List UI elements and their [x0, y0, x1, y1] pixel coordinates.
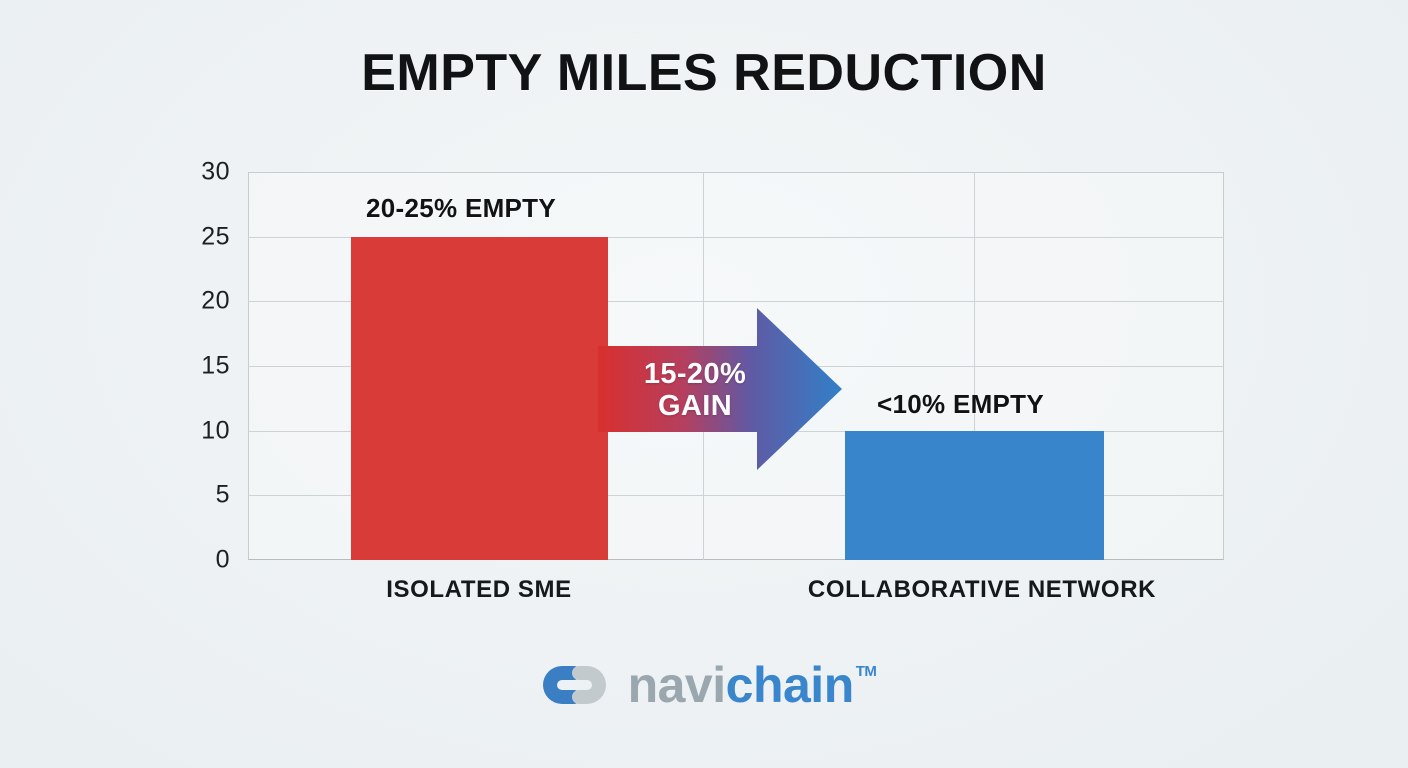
brand-wordmark-chain: chain [726, 660, 854, 710]
brand-wordmark: navi chain TM [628, 660, 877, 710]
page-title: EMPTY MILES REDUCTION [0, 46, 1408, 101]
chain-link-icon [532, 660, 614, 710]
trademark-symbol: TM [856, 664, 877, 679]
chart-canvas: EMPTY MILES REDUCTION 30 25 20 15 10 5 0… [0, 0, 1408, 768]
gain-arrow: 15-20% GAIN [598, 306, 844, 472]
brand-logo: navi chain TM [0, 660, 1408, 710]
y-axis-tick-20: 20 [170, 287, 230, 316]
y-axis-tick-5: 5 [170, 481, 230, 510]
y-axis-tick-25: 25 [170, 222, 230, 251]
x-axis-label-collaborative-network: COLLABORATIVE NETWORK [808, 576, 1156, 604]
brand-wordmark-navi: navi [628, 660, 726, 710]
bar-label-collaborative-network: <10% EMPTY [877, 389, 1044, 420]
y-axis-tick-10: 10 [170, 416, 230, 445]
y-axis-tick-0: 0 [170, 546, 230, 575]
x-axis-label-isolated-sme: ISOLATED SME [386, 576, 571, 604]
y-axis-tick-15: 15 [170, 352, 230, 381]
y-axis-tick-30: 30 [170, 158, 230, 187]
bar-label-isolated-sme: 20-25% EMPTY [366, 193, 556, 224]
bar-isolated-sme[interactable] [351, 237, 608, 560]
gain-arrow-shape [598, 306, 844, 472]
bar-collaborative-network[interactable] [845, 431, 1104, 560]
